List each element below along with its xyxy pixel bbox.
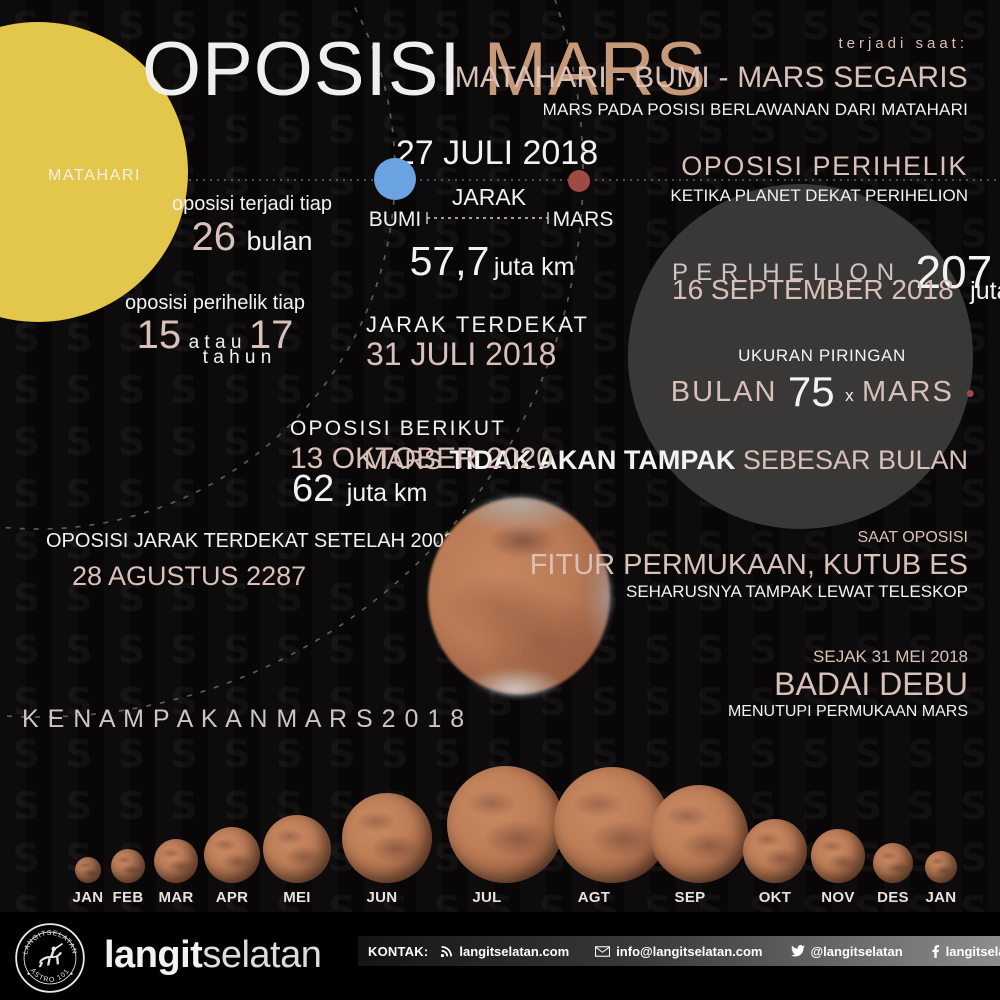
mars-month-label: JUN [342, 889, 422, 906]
mars-month-cell: JAN [901, 771, 981, 906]
kontak-label: KONTAK: [368, 944, 428, 959]
appearance-title: K E N A M P A K A N M A R S 2 0 1 8 [22, 706, 465, 732]
rss-icon [440, 945, 453, 958]
opposition-interval-label: oposisi terjadi tiap [172, 194, 332, 215]
mars-disc-sep-8 [650, 785, 748, 883]
earth-label: BUMI [369, 209, 422, 231]
brand-wordmark: langitselatan [104, 934, 321, 977]
disk-size-label: UKURAN PIRINGAN [738, 347, 906, 365]
website-link[interactable]: langitselatan.com [440, 944, 569, 959]
distance-unit: juta km [494, 253, 575, 281]
brand-selatan: selatan [202, 934, 321, 976]
perihelic-interval-label: oposisi perihelik tiap [125, 293, 305, 314]
mars-month-label: JUL [447, 889, 527, 906]
mars-month-label: JAN [901, 889, 981, 906]
mars-month-label: SEP [650, 889, 730, 906]
next-opposition-label: OPOSISI BERIKUT [290, 418, 506, 440]
perihelion-date: 16 SEPTEMBER 2018 [672, 274, 954, 305]
perihelic-interval-v1: 15 [137, 313, 182, 357]
mars-disc-apr-3 [204, 827, 260, 883]
perihelion-date-row: 16 SEPTEMBER 2018 juta km [672, 275, 1000, 304]
record-opposition-date: 28 AGUSTUS 2287 [72, 562, 306, 590]
contact-bar: KONTAK: langitselatan.com info@langitsel… [358, 936, 1000, 966]
next-opposition-value: 62 [292, 468, 334, 510]
header-eyebrow: terjadi saat: [838, 36, 968, 52]
telescope-eyebrow: SAAT OPOSISI [857, 530, 968, 547]
closest-distance-date: 31 JULI 2018 [366, 338, 556, 372]
mars-cell-spacer [650, 771, 730, 785]
sun-label: MATAHARI [48, 167, 141, 185]
moon-size-note-c: SEBESAR BULAN [735, 445, 968, 475]
mars-label: MARS [553, 209, 614, 231]
disk-compare-row: BULAN 75 x MARS [671, 370, 974, 414]
infographic-canvas: SSSSSSSSSSSSSSSSSSSSSSSSSSSSSSSSSSSSSSSS… [0, 0, 1000, 1000]
mars-month-label: MEI [257, 889, 337, 906]
mars-disc-jun-5 [342, 793, 432, 883]
mars-dot-icon [966, 390, 973, 397]
distance-row: 57,7 juta km [410, 240, 575, 283]
telescope-subline: SEHARUSNYA TAMPAK LEWAT TELESKOP [626, 583, 968, 601]
mars-month-cell: JUN [342, 771, 422, 906]
closest-distance-label: JARAK TERDEKAT [366, 313, 589, 336]
perihelic-title: OPOSISI PERIHELIK [681, 152, 968, 180]
perihelic-interval-unit: t a h u n [203, 348, 272, 368]
mars-telescope-image [428, 498, 610, 694]
disk-mars-label: MARS [862, 376, 954, 408]
mars-planet-dot [568, 170, 590, 192]
langitselatan-logo-icon: LANGITSELATAN ASTRO 101 [14, 922, 86, 994]
dust-eyebrow: SEJAK 31 MEI 2018 [813, 648, 968, 666]
facebook-text: langitselatan [946, 944, 1000, 959]
mars-month-cell: SEP [650, 771, 730, 906]
mars-disc-mei-4 [263, 815, 331, 883]
opposition-date: 27 JULI 2018 [396, 136, 598, 172]
distance-measure-bar [427, 212, 548, 224]
svg-text:LANGITSELATAN: LANGITSELATAN [22, 930, 78, 955]
opposition-interval-unit: bulan [246, 226, 312, 256]
title-part-oposisi: OPOSISI [142, 27, 462, 112]
svg-text:ASTRO 101: ASTRO 101 [29, 967, 72, 984]
record-opposition-label: OPOSISI JARAK TERDEKAT SETELAH 2003 [46, 531, 455, 552]
twitter-link[interactable]: @langitselatan [791, 944, 903, 959]
next-opposition-distance-row: 62 juta km [292, 470, 427, 510]
dust-headline: BADAI DEBU [774, 668, 968, 702]
header-headline: MATAHARI - BUMI - MARS SEGARIS [455, 62, 968, 94]
mars-month-cell: AGT [554, 767, 634, 906]
brand-langit: langit [104, 934, 202, 976]
opposition-interval-row: 26 bulan [191, 216, 312, 258]
mars-cell-spacer [342, 771, 422, 793]
distance-value: 57,7 [410, 238, 490, 284]
email-text: info@langitselatan.com [616, 944, 762, 959]
facebook-link[interactable]: langitselatan [931, 944, 1000, 959]
website-text: langitselatan.com [459, 944, 569, 959]
disk-ratio-value: 75 [788, 368, 835, 415]
disk-moon-label: BULAN [671, 376, 778, 408]
mars-cell-spacer [901, 771, 981, 851]
facebook-icon [931, 945, 940, 958]
next-opposition-unit: juta km [347, 479, 428, 507]
mars-limb-haze [426, 496, 612, 696]
perihelic-subtitle: KETIKA PLANET DEKAT PERIHELION [670, 187, 968, 205]
mars-cell-spacer [257, 771, 337, 815]
mars-disc-jan-12 [925, 851, 957, 883]
mars-month-label: AGT [554, 889, 634, 906]
header-subline: MARS PADA POSISI BERLAWANAN DARI MATAHAR… [543, 101, 968, 119]
twitter-text: @langitselatan [811, 944, 903, 959]
mars-month-cell: MEI [257, 771, 337, 906]
mars-month-cell: JUL [447, 766, 527, 906]
opposition-interval-value: 26 [191, 215, 236, 259]
distance-label: JARAK [452, 185, 526, 209]
mars-disc-jul-6 [447, 766, 564, 883]
email-link[interactable]: info@langitselatan.com [595, 944, 762, 959]
twitter-icon [791, 945, 805, 957]
dust-subline: MENUTUPI PERMUKAAN MARS [728, 704, 968, 721]
envelope-icon [595, 946, 610, 957]
earth-planet-dot [374, 158, 416, 200]
disk-times-symbol: x [845, 386, 854, 405]
telescope-headline: FITUR PERMUKAAN, KUTUB ES [530, 550, 968, 580]
mars-size-sequence: JANFEBMARAPRMEIJUNJULAGTSEPOKTNOVDESJAN [0, 766, 1000, 906]
perihelion-unit: juta km [970, 277, 1000, 305]
